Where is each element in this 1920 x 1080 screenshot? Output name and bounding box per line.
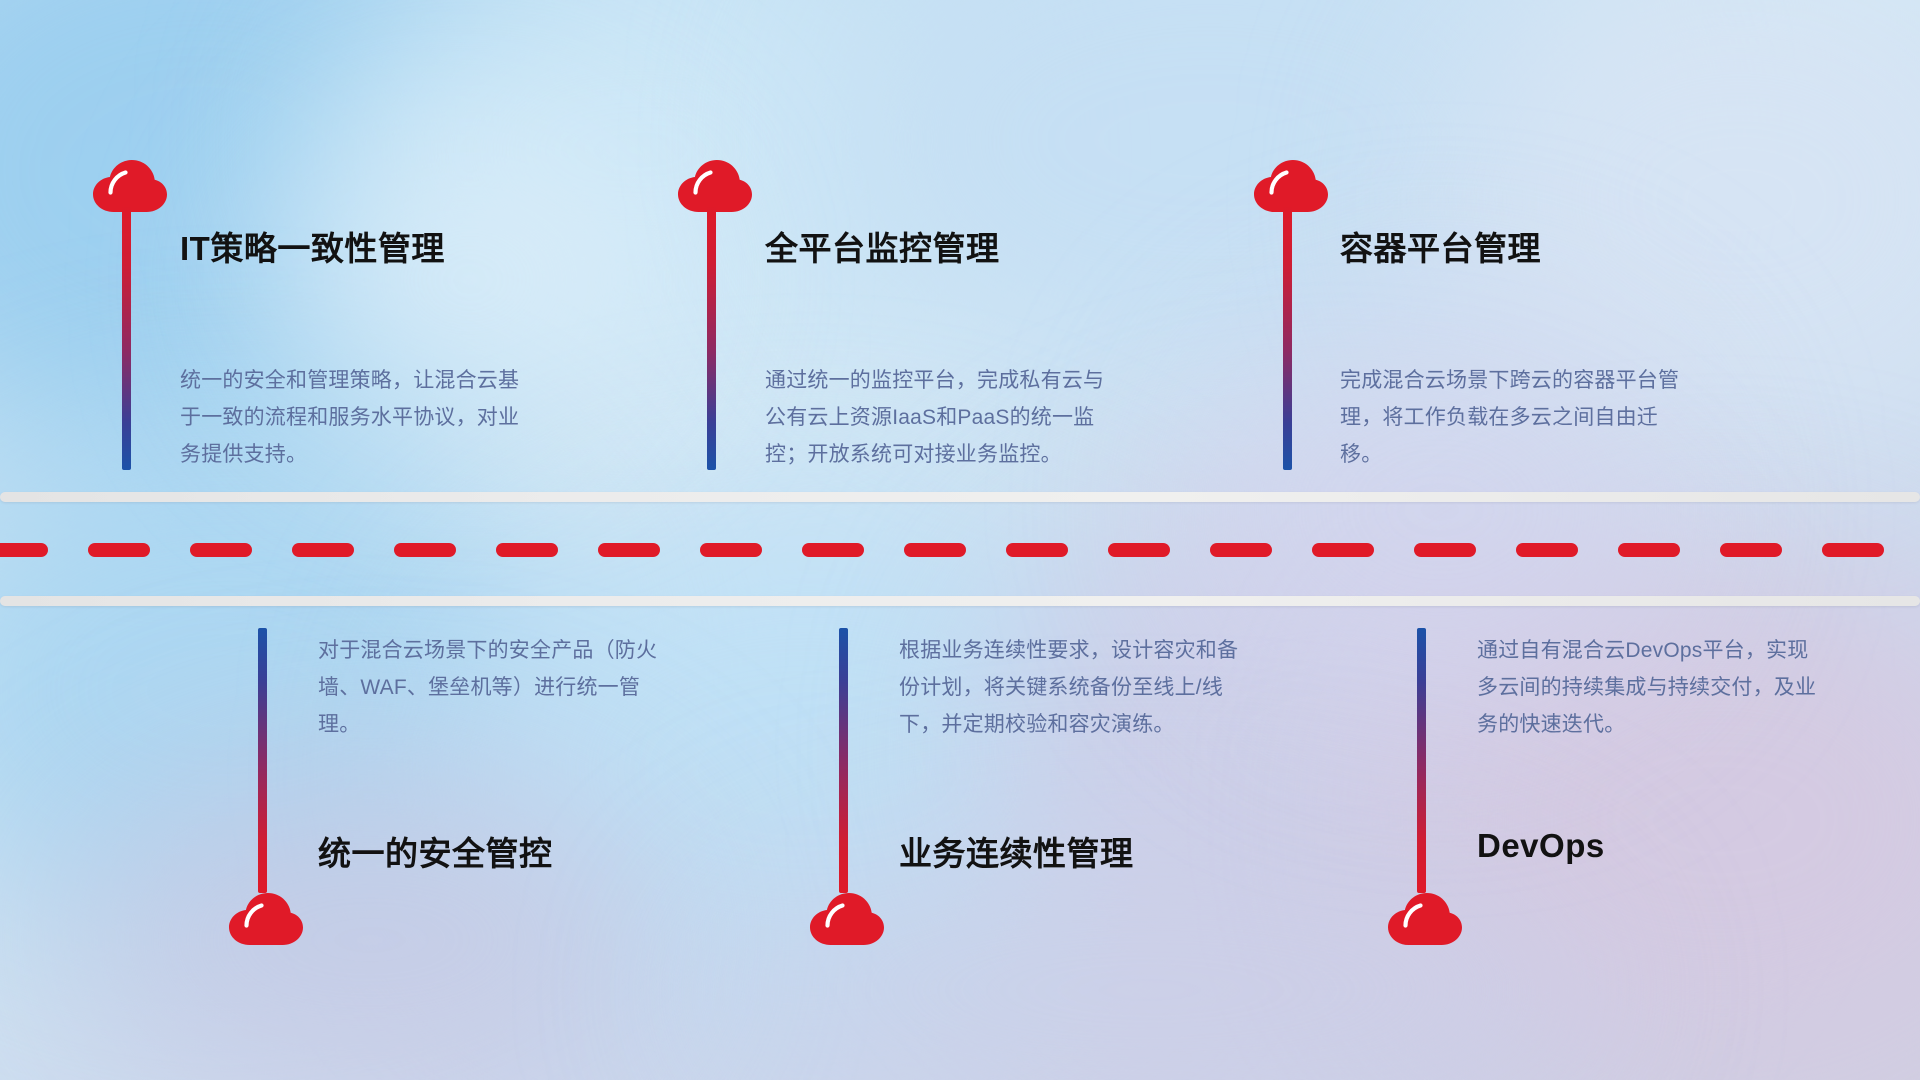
item-title: 统一的安全管控 [318, 827, 553, 875]
item-title: IT策略一致性管理 [180, 222, 445, 270]
cloud-icon [229, 893, 303, 945]
item-title: 容器平台管理 [1340, 222, 1541, 270]
road-dash [700, 543, 762, 557]
road-dash [0, 543, 48, 557]
item-description: 根据业务连续性要求，设计容灾和备份计划，将关键系统备份至线上/线下，并定期校验和… [899, 632, 1251, 743]
road-dash [598, 543, 660, 557]
connector-line [122, 205, 131, 470]
road-dash [1312, 543, 1374, 557]
road-dash [496, 543, 558, 557]
road-dash [394, 543, 456, 557]
road-edge-bottom [0, 596, 1920, 606]
road-dash [292, 543, 354, 557]
connector-line [1283, 205, 1292, 470]
item-title: 全平台监控管理 [765, 222, 1000, 270]
item-description: 统一的安全和管理策略，让混合云基于一致的流程和服务水平协议，对业务提供支持。 [180, 362, 532, 473]
road-dash [1414, 543, 1476, 557]
road-dash [1618, 543, 1680, 557]
road-dash [88, 543, 150, 557]
road-dash [190, 543, 252, 557]
connector-line [707, 205, 716, 470]
item-title: DevOps [1477, 827, 1605, 865]
cloud-icon [93, 160, 167, 212]
road-dash [1108, 543, 1170, 557]
road-dash [802, 543, 864, 557]
cloud-icon [678, 160, 752, 212]
connector-line [258, 628, 267, 893]
infographic-canvas: IT策略一致性管理 统一的安全和管理策略，让混合云基于一致的流程和服务水平协议，… [0, 0, 1920, 1080]
cloud-icon [1254, 160, 1328, 212]
cloud-icon [810, 893, 884, 945]
road-dash [1822, 543, 1884, 557]
road-dash [904, 543, 966, 557]
item-description: 通过自有混合云DevOps平台，实现多云间的持续集成与持续交付，及业务的快速迭代… [1477, 632, 1829, 743]
road-dashed-centerline [0, 543, 1920, 557]
road-dash [1006, 543, 1068, 557]
road-dash [1720, 543, 1782, 557]
item-description: 通过统一的监控平台，完成私有云与公有云上资源IaaS和PaaS的统一监控；开放系… [765, 362, 1117, 473]
road-edge-top [0, 492, 1920, 502]
connector-line [839, 628, 848, 893]
road-dash [1516, 543, 1578, 557]
connector-line [1417, 628, 1426, 893]
item-description: 完成混合云场景下跨云的容器平台管理，将工作负载在多云之间自由迁移。 [1340, 362, 1692, 473]
item-description: 对于混合云场景下的安全产品（防火墙、WAF、堡垒机等）进行统一管理。 [318, 632, 670, 743]
item-title: 业务连续性管理 [899, 827, 1134, 875]
cloud-icon [1388, 893, 1462, 945]
road-dash [1210, 543, 1272, 557]
